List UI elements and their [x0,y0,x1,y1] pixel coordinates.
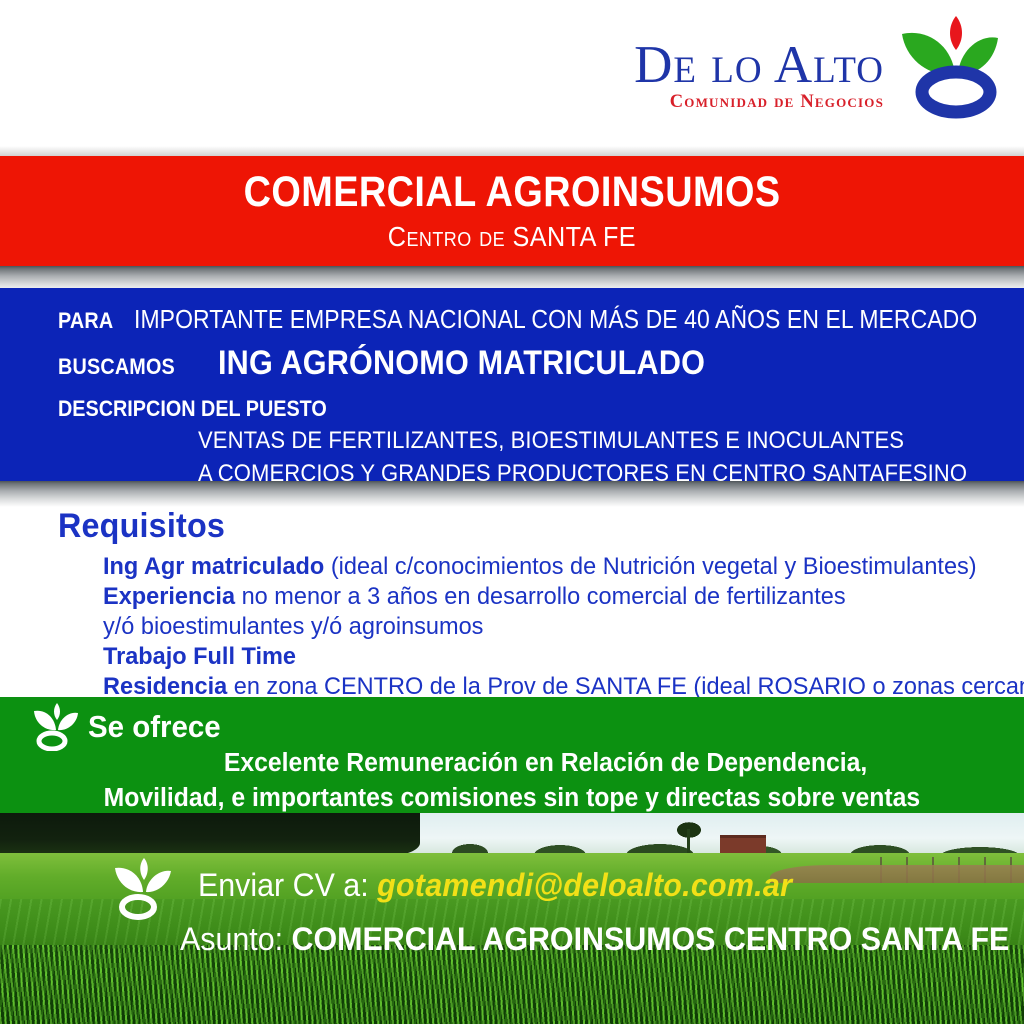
list-item: Ing Agr matriculado (ideal c/conocimient… [103,552,987,582]
photo-lone-tree [672,819,706,857]
list-item: Trabajo Full Time [103,642,987,672]
subject-line: Asunto: COMERCIAL AGROINSUMOS CENTRO SAN… [180,921,1009,958]
contact-section: Enviar CV a: gotamendi@deloalto.com.ar A… [0,855,1024,975]
employer-description: IMPORTANTE EMPRESA NACIONAL CON MÁS DE 4… [134,306,977,335]
divider-shadow-below-blue [0,481,1024,507]
send-cv-label: Enviar CV a: [198,867,377,903]
requirement-text: (ideal c/conocimientos de Nutrición vege… [324,553,976,580]
offer-band: Se ofrece Excelente Remuneración en Rela… [0,697,1024,813]
email-address[interactable]: gotamendi@deloalto.com.ar [377,867,792,903]
list-item: y/ó bioestimulantes y/ó agroinsumos [103,612,987,642]
email-line: Enviar CV a: gotamendi@deloalto.com.ar [198,867,792,904]
employer-row: PARA IMPORTANTE EMPRESA NACIONAL CON MÁS… [58,306,1024,335]
offer-line-1: Excelente Remuneración en Relación de De… [156,749,867,778]
sprout-seed-icon [894,12,1006,124]
requirement-text: en zona CENTRO de la Prov de SANTA FE (i… [227,673,1024,700]
job-description-line-1: VENTAS DE FERTILIZANTES, BIOESTIMULANTES… [198,427,941,455]
requirement-lead: Experiencia [103,583,235,610]
list-item: Experiencia no menor a 3 años en desarro… [103,582,987,612]
role-row: BUSCAMOS ING AGRÓNOMO MATRICULADO [58,344,1024,383]
role-title: ING AGRÓNOMO MATRICULADO [218,344,705,383]
sprout-seed-icon [32,703,80,751]
job-description-label: DESCRIPCION DEL PUESTO [58,396,927,422]
position-region: Centro de SANTA FE [388,223,636,251]
brand-logo: De lo Alto Comunidad de Negocios [634,12,1006,124]
job-posting-poster: De lo Alto Comunidad de Negocios COMERCI… [0,0,1024,1024]
requirement-text: no menor a 3 años en desarrollo comercia… [235,583,846,610]
employer-label: PARA [58,308,113,334]
logo-name: De lo Alto [634,40,884,90]
offer-title: Se ofrece [88,709,221,745]
subject-value: COMERCIAL AGROINSUMOS CENTRO SANTA FE [292,921,1010,957]
position-title-band: COMERCIAL AGROINSUMOS Centro de SANTA FE [0,156,1024,266]
offer-line-2: Movilidad, e importantes comisiones sin … [104,784,920,813]
requirement-lead: Trabajo Full Time [103,643,296,670]
requirements-heading: Requisitos [58,507,976,546]
header: De lo Alto Comunidad de Negocios [0,0,1024,148]
requirement-text: y/ó bioestimulantes y/ó agroinsumos [103,613,483,640]
offer-line-2-wrap: Movilidad, e importantes comisiones sin … [0,778,1024,813]
offer-line-1-wrap: Excelente Remuneración en Relación de De… [0,749,1024,778]
position-region-prefix: Centro de [388,221,513,252]
requirement-lead: Residencia [103,673,227,700]
logo-text-block: De lo Alto Comunidad de Negocios [634,12,894,113]
photo-left-treeline [0,813,420,857]
requirements-list: Ing Agr matriculado (ideal c/conocimient… [58,552,1024,701]
job-details-band: PARA IMPORTANTE EMPRESA NACIONAL CON MÁS… [0,288,1024,481]
logo-tagline: Comunidad de Negocios [634,92,884,113]
offer-heading-row: Se ofrece [0,697,1024,751]
offer-details: Excelente Remuneración en Relación de De… [0,749,1024,813]
position-title: COMERCIAL AGROINSUMOS [244,171,781,214]
position-region-place: SANTA FE [513,221,637,252]
requirements-section: Requisitos Ing Agr matriculado (ideal c/… [0,507,1024,690]
sprout-seed-icon [112,858,174,920]
subject-label: Asunto: [180,921,292,957]
role-label: BUSCAMOS [58,354,175,380]
requirement-lead: Ing Agr matriculado [103,553,324,580]
